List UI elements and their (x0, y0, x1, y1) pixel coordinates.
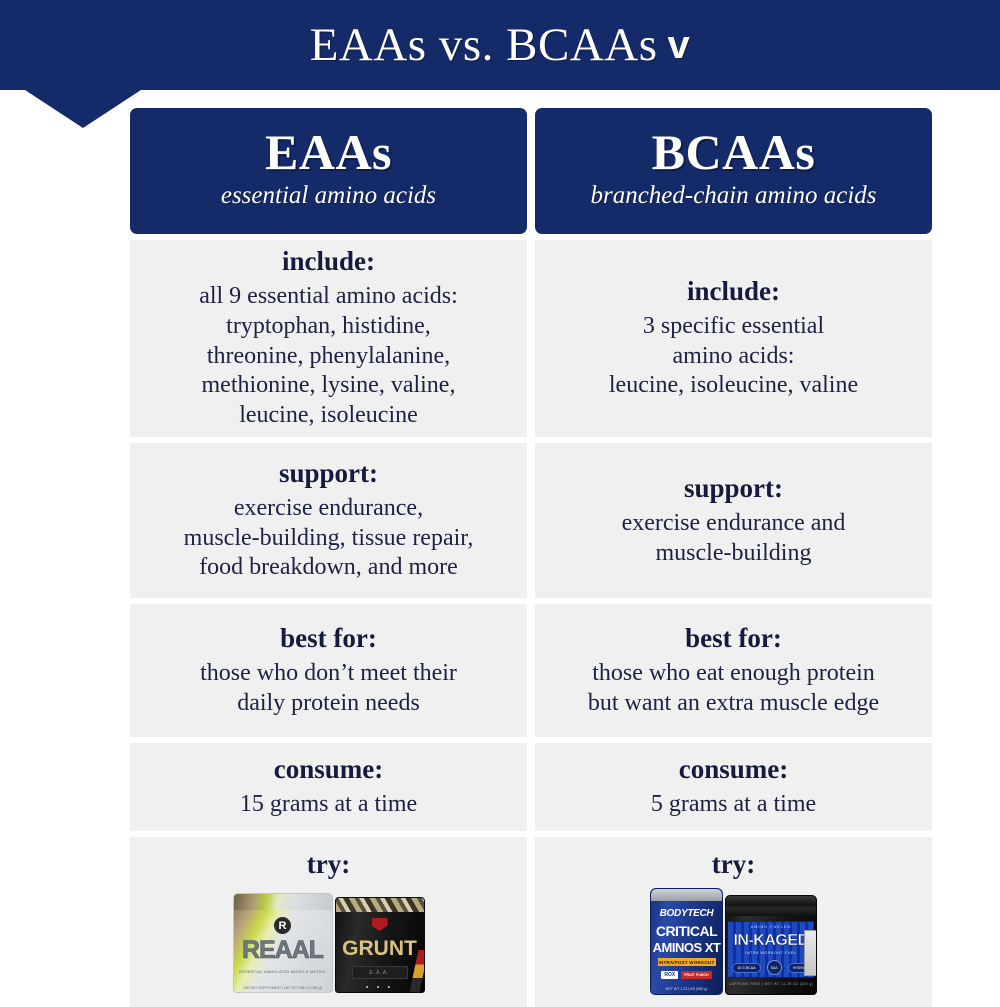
cell-label: support: (279, 458, 378, 489)
cell-label: consume: (274, 754, 384, 785)
cell-body: exercise endurance and muscle-building (622, 509, 846, 569)
cell-eaas-try: try: R REAAL ESSENTIAL AMINO ACID MUSCLE… (130, 837, 527, 1007)
product-name-in-kaged: IN-KAGED (733, 933, 808, 949)
cell-body: those who don’t meet their daily protein… (200, 659, 457, 719)
product-net-weight: NET WT 1.23 LBS (560 g) (651, 987, 722, 991)
product-name-reaal: REAAL (242, 938, 323, 963)
product-toptext: AMINO FUELED (751, 925, 791, 929)
cell-label: try: (307, 849, 350, 880)
column-header-eaas: EAAs essential amino acids (130, 108, 527, 234)
cell-eaas-include: include: all 9 essential amino acids: tr… (130, 240, 527, 437)
product-side-label (804, 930, 817, 976)
product-name-line1: CRITICAL (656, 924, 717, 938)
product-usage-bar: INTRA/POST WORKOUT (658, 958, 716, 966)
cell-eaas-best-for: best for: those who don’t meet their dai… (130, 604, 527, 737)
product-dots: • • • (366, 984, 393, 992)
page-title-text: EAAs vs. BCAAs (310, 19, 658, 71)
product-strip-text: E.A.A. (352, 966, 408, 979)
product-brand-bodytech: BODYTECH (660, 909, 714, 919)
cell-body: all 9 essential amino acids: tryptophan,… (199, 282, 458, 431)
product-label-wrap: AMINO FUELED IN-KAGED INTRA WORKOUT FUEL… (728, 921, 814, 978)
cell-eaas-consume: consume: 15 grams at a time (130, 743, 527, 831)
cell-body: 5 grams at a time (651, 790, 816, 820)
column-subtitle-bcaas: branched-chain amino acids (590, 182, 876, 210)
cell-body: exercise endurance, muscle-building, tis… (184, 494, 474, 583)
product-name-line2: AMINOS XT (653, 941, 721, 954)
product-badges: ROX FRUIT PUNCH (661, 971, 711, 979)
badge-rox: ROX (661, 971, 678, 979)
cell-label: best for: (280, 623, 377, 654)
column-header-bcaas: BCAAs branched-chain amino acids (535, 108, 932, 234)
tub-lid (726, 896, 816, 916)
cell-eaas-support: support: exercise endurance, muscle-buil… (130, 443, 527, 598)
tub-lid-camo (336, 898, 424, 912)
page-title: EAAs vs. BCAAsv (310, 22, 691, 69)
pill-round: EAA (767, 960, 782, 975)
product-pills: 10 G BCAA EAA HYDR8 (732, 960, 810, 975)
cell-label: support: (684, 473, 783, 504)
redcon1-shield-icon (372, 918, 388, 931)
header-banner: EAAs vs. BCAAsv (0, 0, 1000, 90)
column-bcaas: BCAAs branched-chain amino acids include… (535, 108, 932, 1007)
cell-label: consume: (679, 754, 789, 785)
cell-bcaas-try: try: BODYTECH CRITICAL AMINOS XT INTRA/P… (535, 837, 932, 1007)
cell-bcaas-include: include: 3 specific essential amino acid… (535, 240, 932, 437)
product-tub-critical-aminos-xt: BODYTECH CRITICAL AMINOS XT INTRA/POST W… (650, 888, 723, 995)
badge-flavor: FRUIT PUNCH (681, 971, 711, 979)
column-subtitle-eaas: essential amino acids (221, 182, 436, 210)
pill-left: 10 G BCAA (732, 963, 761, 973)
column-title-bcaas: BCAAs (652, 127, 816, 178)
cell-label: include: (687, 276, 780, 307)
cell-bcaas-best-for: best for: those who eat enough protein b… (535, 604, 932, 737)
product-tub-in-kaged: AMINO FUELED IN-KAGED INTRA WORKOUT FUEL… (725, 895, 817, 995)
cell-bcaas-consume: consume: 5 grams at a time (535, 743, 932, 831)
product-tub-grunt: GRUNT E.A.A. • • • (335, 897, 425, 993)
cell-body: 15 grams at a time (240, 790, 417, 820)
product-baseline-text: DIETARY SUPPLEMENT | NET WT 9.88 OZ (280… (234, 986, 332, 990)
column-eaas: EAAs essential amino acids include: all … (130, 108, 527, 1007)
product-brandmark: R (274, 917, 291, 934)
tub-lid (234, 894, 332, 910)
cell-label: include: (282, 246, 375, 277)
product-subtext: INTRA WORKOUT FUEL (745, 951, 796, 955)
cell-body: 3 specific essential amino acids: leucin… (609, 312, 858, 401)
cell-bcaas-support: support: exercise endurance and muscle-b… (535, 443, 932, 598)
product-images-bcaas: BODYTECH CRITICAL AMINOS XT INTRA/POST W… (650, 888, 817, 995)
cell-body: those who eat enough protein but want an… (588, 659, 879, 719)
product-images-eaas: R REAAL ESSENTIAL AMINO ACID MUSCLE MATR… (233, 888, 425, 993)
comparison-table: EAAs essential amino acids include: all … (130, 108, 940, 1007)
brand-logo-mark: v (668, 23, 691, 67)
product-bottom-text: CAFFEINE FREE | NET WT 11.29 OZ (320 g) (729, 982, 814, 986)
cell-label: try: (712, 849, 755, 880)
column-title-eaas: EAAs (265, 127, 392, 178)
product-fineprint: ESSENTIAL AMINO ACID MUSCLE MATRIX (239, 969, 326, 974)
banner-notch-triangle (25, 90, 141, 128)
product-tub-reaal: R REAAL ESSENTIAL AMINO ACID MUSCLE MATR… (233, 893, 333, 993)
cell-label: best for: (685, 623, 782, 654)
tub-lid (651, 889, 722, 901)
product-name-grunt: GRUNT (342, 938, 417, 959)
